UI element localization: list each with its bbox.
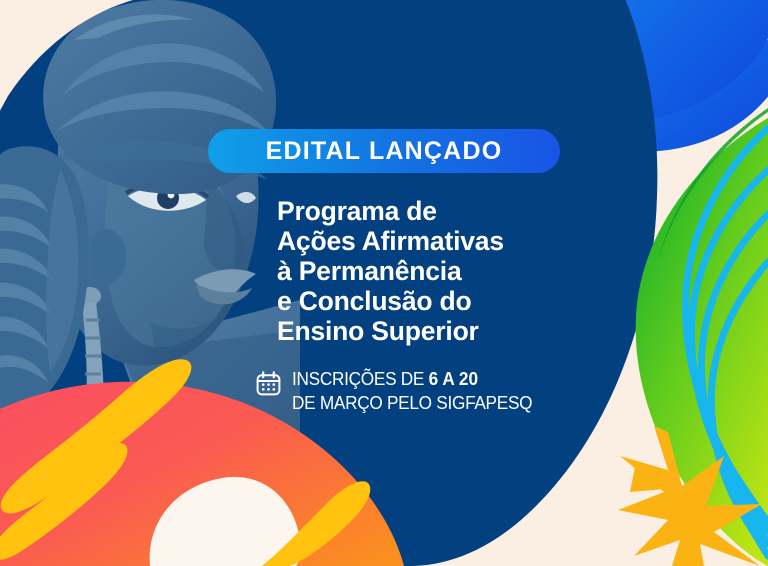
poster-canvas: EDITAL LANÇADO Programa de Ações Afirmat… (0, 0, 768, 566)
edital-badge[interactable]: EDITAL LANÇADO (208, 129, 560, 173)
edital-badge-label: EDITAL LANÇADO (266, 139, 503, 164)
poster-artwork (0, 0, 768, 566)
